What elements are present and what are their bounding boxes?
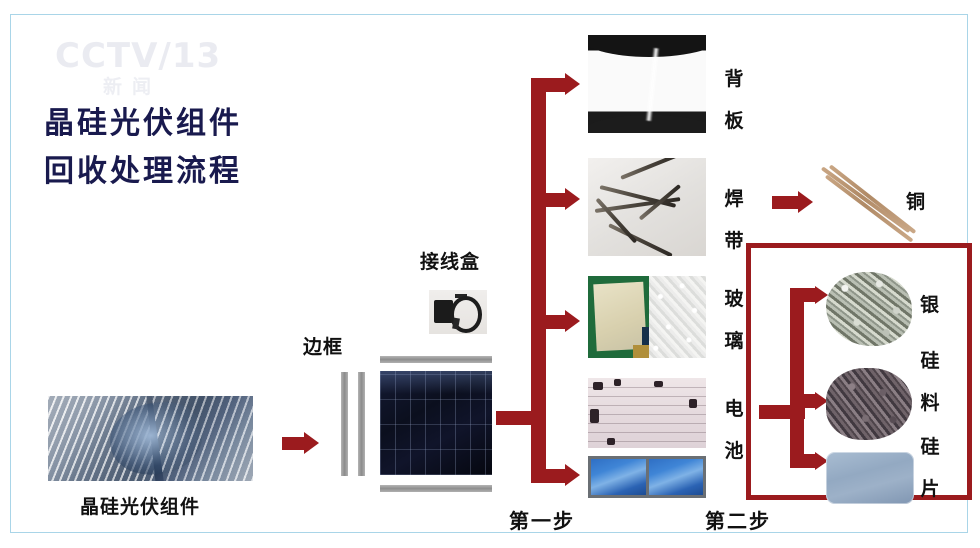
label-char: 背 [722,58,746,100]
label-char: 璃 [722,320,746,362]
cell-sheet-lines [588,384,706,443]
step1-branch-4-head [565,464,580,486]
cell-sheet-spot [654,381,663,387]
junction-box-photo [429,290,487,334]
glass-cullet-texture [649,276,706,358]
step1-branch-3-shaft [540,315,567,329]
frame-label: 边框 [303,332,343,359]
glass-bin-inner [593,281,646,351]
blue-cells-photo [588,456,706,498]
step1-branch-1-shaft [531,78,567,92]
label-char: 带 [722,220,746,262]
step2-branch-3-shaft [790,454,818,468]
module-glare [105,397,205,479]
glass-cullet-photo [588,276,706,358]
page-title: 晶硅光伏组件 回收处理流程 [44,100,384,196]
step1-branch-2-shaft [540,193,567,207]
label-char: 硅 [918,426,942,468]
pv-module-caption: 晶硅光伏组件 [80,492,200,519]
step1-branch-2-head [565,188,580,210]
copper-strands [820,160,920,236]
pv-module-photo [48,396,253,481]
label-char: 片 [918,468,942,510]
step1-branch-3-head [565,310,580,332]
step2-trunk [790,288,804,468]
cell-sheet-spot [614,379,621,386]
step2-branch-1-shaft [790,288,818,302]
label-char: 电 [722,388,746,430]
panel-row-lines [380,371,492,475]
cell-sheet-photo [588,378,706,448]
label-char: 硅 [918,340,942,382]
blue-cell-right [649,459,704,495]
frame-bar-top [380,356,492,363]
step2-caption: 第二步 [705,505,771,534]
step1-branch-1-head [565,73,580,95]
backsheet-top-band [588,35,706,57]
cell-sheet-spot [590,409,599,423]
step1-trunk [531,78,546,483]
glass-bin-tan [633,345,650,358]
output-label-glass: 玻璃 [722,278,746,362]
step1-branch-4-shaft [540,469,567,483]
output-label-cell: 电池 [722,388,746,472]
output-label-backsheet: 背板 [722,58,746,142]
step2-branch-2-shaft [790,394,818,408]
backsheet-photo [588,35,706,133]
ribbon-strand [608,223,673,256]
label-char: 池 [722,430,746,472]
output-label-silver: 银 [920,290,940,317]
backsheet-highlight [646,48,661,121]
output-label-silicon-wafer: 硅片 [918,426,942,510]
silicon-wafer-photo [826,452,914,504]
frame-bar-left-2 [358,372,365,476]
blue-cell-left [591,459,646,495]
label-char: 玻 [722,278,746,320]
ribbon-strand [620,158,681,179]
channel-sub-text: 新闻 [103,72,265,99]
cell-sheet-spot [593,382,603,390]
solar-panel-illustration [380,371,492,475]
label-char: 板 [722,100,746,142]
ribbon-photo [588,158,706,256]
label-char: 料 [918,382,942,424]
title-line-1: 晶硅光伏组件 [44,100,384,148]
title-line-2: 回收处理流程 [44,148,384,196]
output-label-silicon-material: 硅料 [918,340,942,424]
frame-bar-left-1 [341,372,348,476]
frame-bar-bottom [380,485,492,492]
copper-label: 铜 [906,187,926,214]
channel-logo-text: CCTV/13 [55,38,265,74]
cell-sheet-spot [689,399,697,408]
junction-box-label: 接线盒 [420,247,480,274]
cell-sheet-spot [607,438,615,445]
output-label-ribbon: 焊带 [722,178,746,262]
slide-canvas: CCTV/13 新闻 晶硅光伏组件 回收处理流程 晶硅光伏组件 边框 接线盒 [0,0,980,548]
step1-caption: 第一步 [509,505,575,534]
cctv-watermark: CCTV/13 新闻 [55,38,265,100]
label-char: 焊 [722,178,746,220]
